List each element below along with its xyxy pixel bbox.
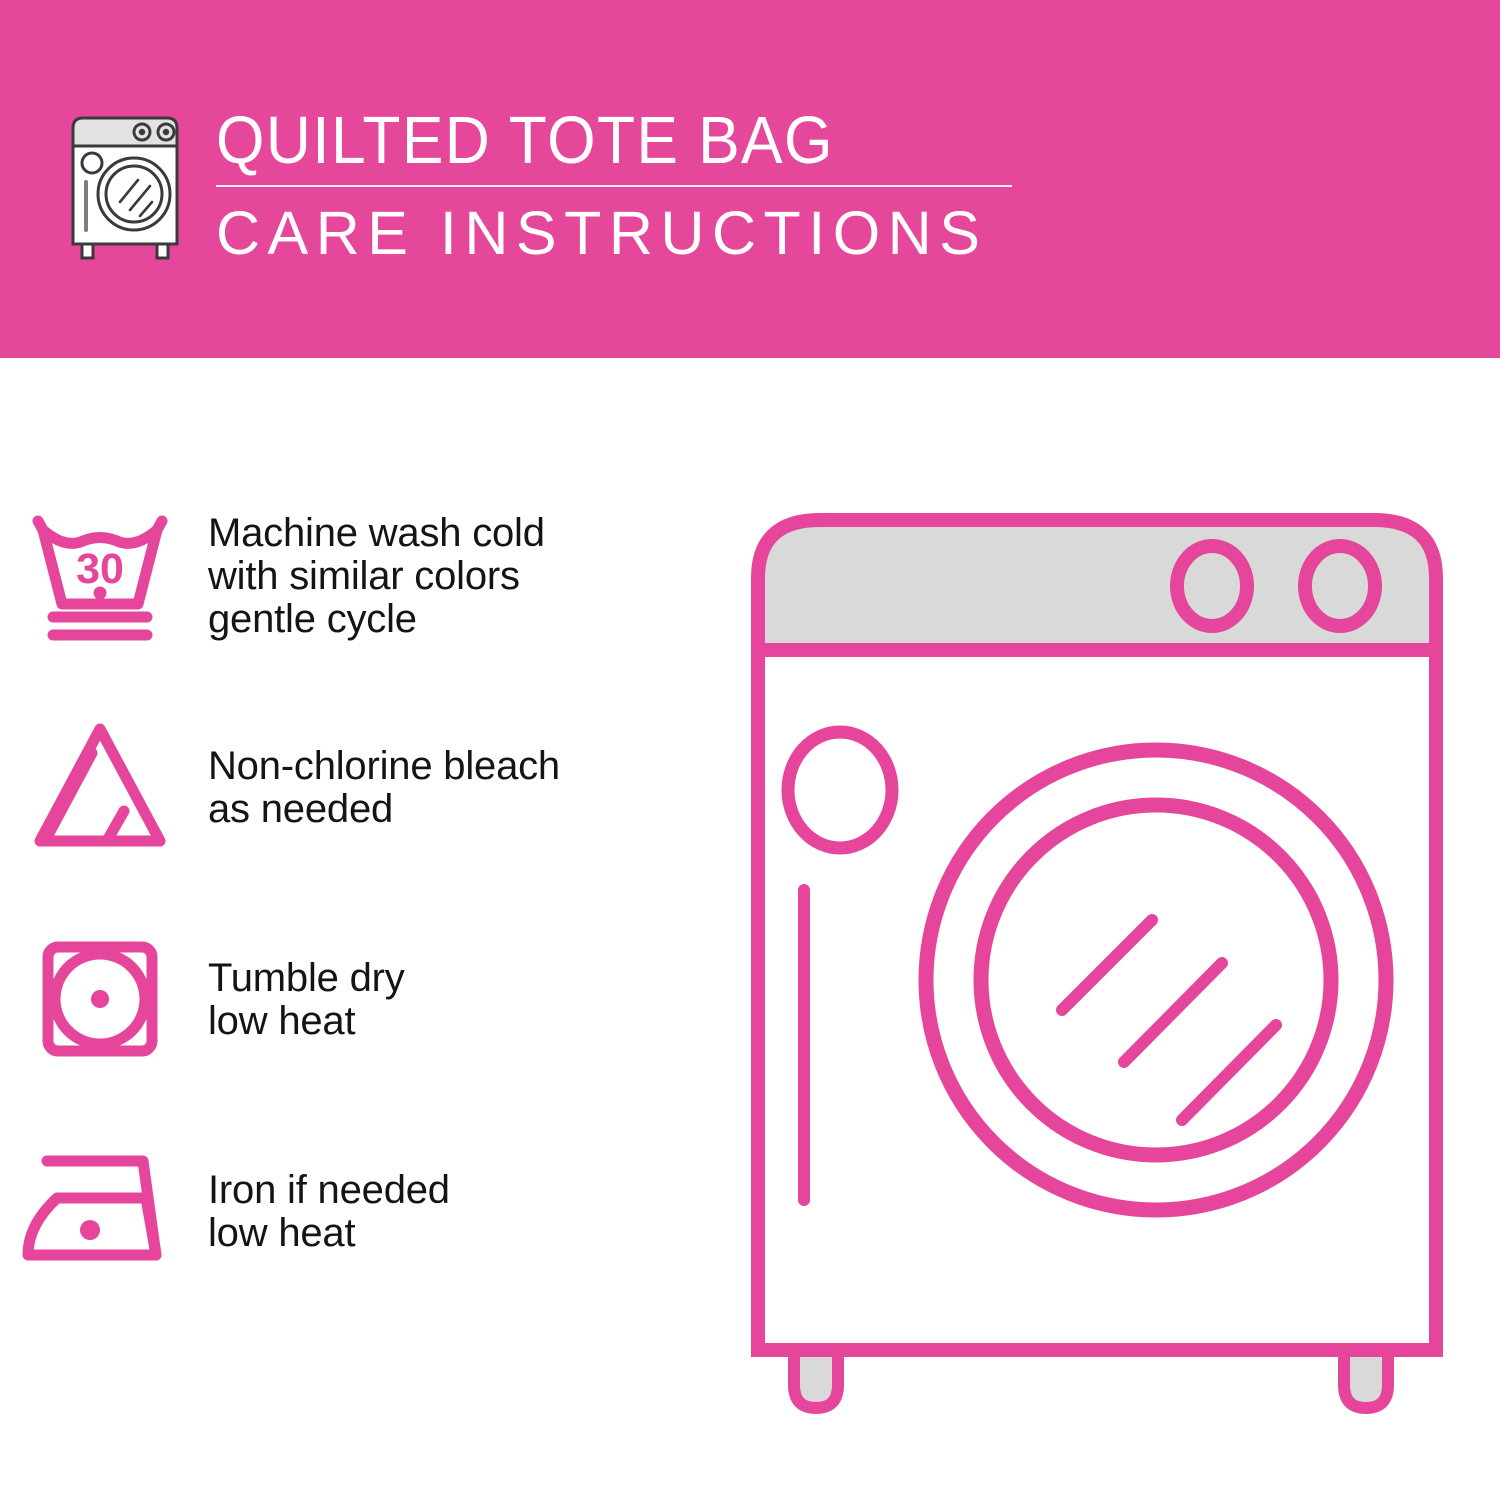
washer-knob [1177,546,1247,626]
wash-tub-30-gentle-icon: 30 [0,486,200,666]
tumble-dry-low-icon [0,910,200,1090]
care-instructions-infographic: QUILTED TOTE BAG CARE INSTRUCTIONS [0,0,1500,1500]
care-row-label: Tumble dry low heat [200,957,405,1043]
care-row-label: Iron if needed low heat [200,1169,450,1255]
care-row: Non-chlorine bleach as needed [0,682,710,894]
care-row: Tumble dry low heat [0,894,710,1106]
washer-drum-inner [981,805,1331,1155]
triangle-non-chlorine-bleach-icon [0,698,200,878]
page-subtitle: CARE INSTRUCTIONS [216,200,1016,266]
washing-machine-illustration [742,500,1452,1430]
care-row-label: Non-chlorine bleach as needed [200,745,560,831]
header-divider [216,185,1012,187]
care-instruction-list: 30 Machine wash cold with similar colors… [0,470,710,1318]
iron-low-heat-icon [0,1122,200,1302]
washer-dial [788,732,892,848]
header-text-block: QUILTED TOTE BAG CARE INSTRUCTIONS [216,104,1016,266]
care-row: 30 Machine wash cold with similar colors… [0,470,710,682]
care-row-label: Machine wash cold with similar colors ge… [200,512,545,641]
wash-temperature-label: 30 [76,545,124,593]
washing-machine-icon [62,106,192,261]
care-row: Iron if needed low heat [0,1106,710,1318]
header-band: QUILTED TOTE BAG CARE INSTRUCTIONS [0,0,1500,358]
washer-knob [1305,546,1375,626]
page-title: QUILTED TOTE BAG [216,104,960,178]
